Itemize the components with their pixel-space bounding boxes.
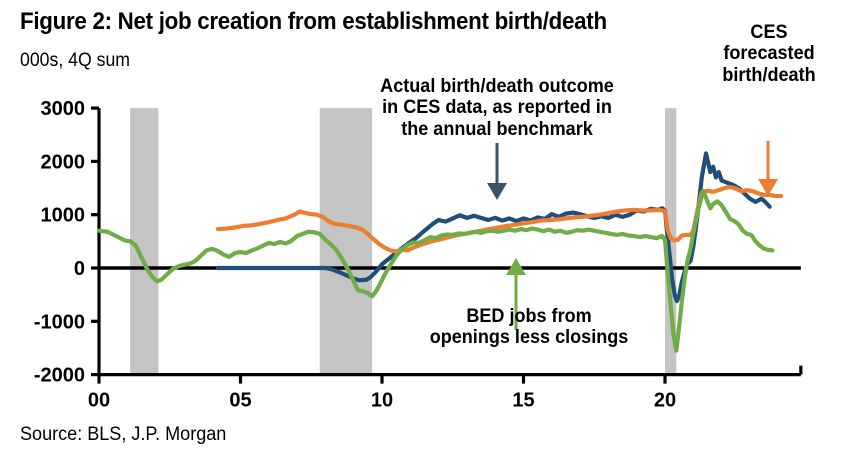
annotation-ces-forecast: CES forecasted birth/death	[709, 22, 829, 86]
recession-band	[130, 108, 158, 375]
y-axis-tick-label: 2000	[41, 151, 86, 173]
x-axis-tick-label: 10	[371, 390, 393, 412]
y-axis-tick-label: -2000	[34, 365, 85, 387]
annotation-arrow-orange	[758, 141, 778, 196]
y-axis-tick-label: -1000	[34, 311, 85, 333]
figure-container: Figure 2: Net job creation from establis…	[0, 0, 852, 459]
y-axis-tick-label: 3000	[41, 98, 86, 120]
annotation-ces-actual: Actual birth/death outcome in CES data, …	[359, 76, 635, 140]
annotation-arrow-navy-head	[487, 183, 507, 200]
x-axis-tick-label: 15	[512, 390, 534, 412]
annotation-bed-jobs: BED jobs from openings less closings	[410, 306, 648, 349]
annotation-arrow-navy	[487, 143, 507, 200]
y-axis-tick-label: 1000	[41, 205, 86, 227]
x-axis-tick-label: 05	[229, 390, 251, 412]
figure-source: Source: BLS, J.P. Morgan	[20, 424, 226, 446]
x-axis-tick-label: 20	[654, 390, 676, 412]
x-axis-tick-label: 00	[88, 390, 110, 412]
y-axis-tick-label: 0	[74, 258, 85, 280]
